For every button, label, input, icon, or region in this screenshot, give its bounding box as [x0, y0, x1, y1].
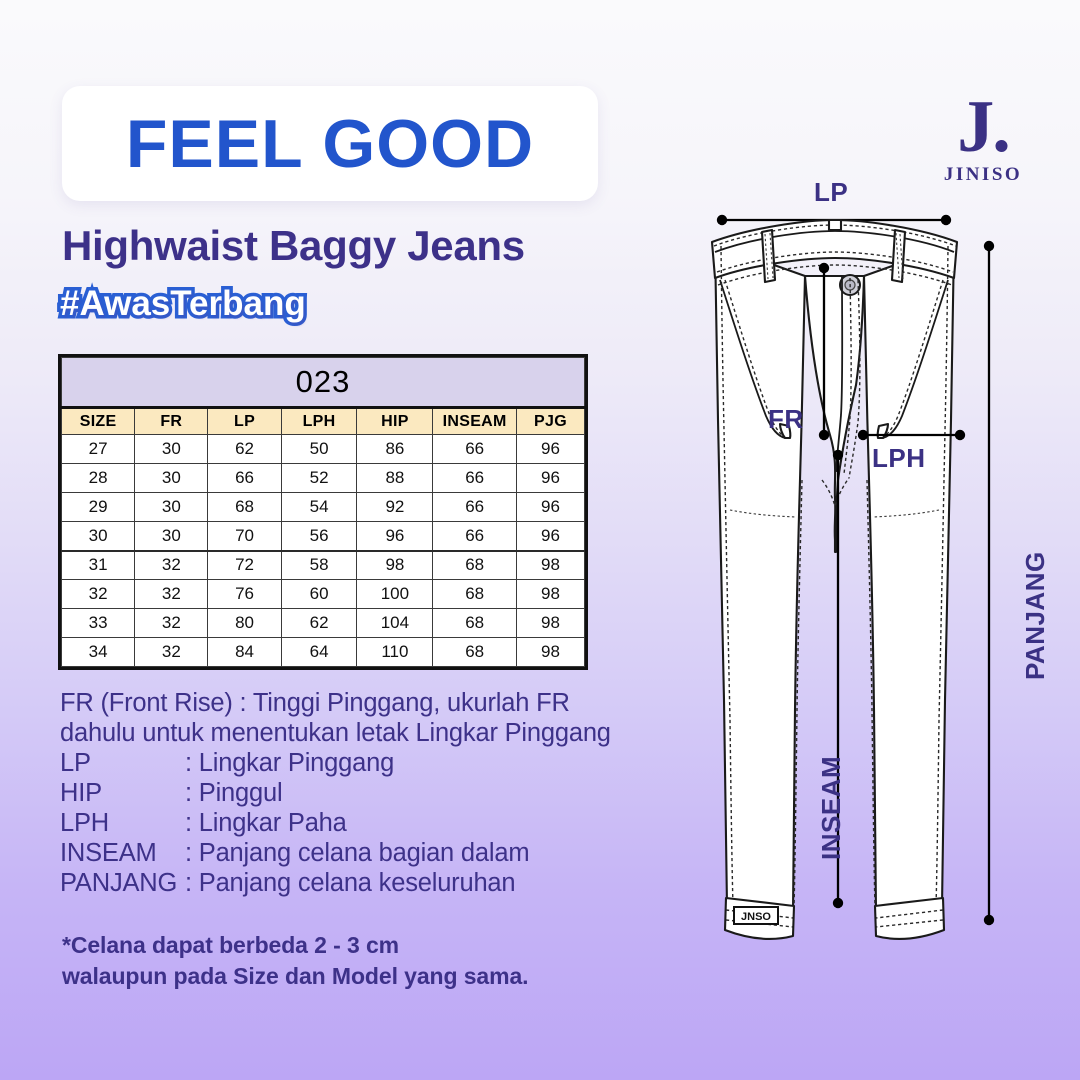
cell-fr: 32 [135, 609, 208, 638]
cell-lp: 80 [208, 609, 281, 638]
cell-size: 30 [62, 522, 135, 551]
legend-fr-line-1: FR (Front Rise) : Tinggi Pinggang, ukurl… [60, 688, 700, 718]
cell-lp: 76 [208, 580, 281, 609]
cell-size: 32 [62, 580, 135, 609]
cell-lph: 58 [281, 551, 357, 580]
cell-lph: 52 [281, 464, 357, 493]
brand-logo: J. JINISO [918, 92, 1048, 186]
cell-hip: 110 [357, 638, 433, 667]
cell-lp: 66 [208, 464, 281, 493]
legend-item-value: : Lingkar Paha [185, 808, 347, 838]
table-row: 323276601006898 [62, 580, 585, 609]
cell-size: 34 [62, 638, 135, 667]
feel-good-title: FEEL GOOD [126, 110, 534, 178]
column-header-hip: HIP [357, 408, 433, 435]
hem-brand-tag: JNSO [734, 907, 778, 924]
legend-item-value: : Pinggul [185, 778, 282, 808]
column-header-lph: LPH [281, 408, 357, 435]
legend-item: HIP: Pinggul [60, 778, 700, 808]
cell-lph: 64 [281, 638, 357, 667]
cell-inseam: 68 [433, 638, 517, 667]
column-header-lp: LP [208, 408, 281, 435]
cell-inseam: 66 [433, 522, 517, 551]
legend-item: LP: Lingkar Pinggang [60, 748, 700, 778]
cell-hip: 96 [357, 522, 433, 551]
disclaimer-line-1: *Celana dapat berbeda 2 - 3 cm [62, 930, 528, 961]
column-header-size: SIZE [62, 408, 135, 435]
cell-lp: 68 [208, 493, 281, 522]
measurement-legend: FR (Front Rise) : Tinggi Pinggang, ukurl… [60, 688, 700, 898]
cell-lph: 60 [281, 580, 357, 609]
disclaimer-note: *Celana dapat berbeda 2 - 3 cm walaupun … [62, 930, 528, 992]
logo-j-mark: J. [918, 92, 1048, 162]
cell-inseam: 66 [433, 435, 517, 464]
cell-lph: 50 [281, 435, 357, 464]
column-header-inseam: INSEAM [433, 408, 517, 435]
cell-hip: 86 [357, 435, 433, 464]
cell-pjg: 98 [516, 638, 584, 667]
table-row: 343284641106898 [62, 638, 585, 667]
legend-item: INSEAM: Panjang celana bagian dalam [60, 838, 700, 868]
cell-lph: 54 [281, 493, 357, 522]
cell-hip: 104 [357, 609, 433, 638]
label-lp: LP [814, 177, 848, 208]
cell-size: 28 [62, 464, 135, 493]
cell-lp: 62 [208, 435, 281, 464]
cell-pjg: 96 [516, 435, 584, 464]
cell-hip: 98 [357, 551, 433, 580]
cell-fr: 32 [135, 551, 208, 580]
cell-pjg: 96 [516, 493, 584, 522]
product-subtitle: Highwaist Baggy Jeans [62, 222, 525, 270]
cell-size: 29 [62, 493, 135, 522]
legend-item-key: LP [60, 748, 185, 778]
cell-fr: 30 [135, 493, 208, 522]
legend-item: PANJANG: Panjang celana keseluruhan [60, 868, 700, 898]
table-row: 333280621046898 [62, 609, 585, 638]
table-header-row: SIZE FR LP LPH HIP INSEAM PJG [62, 408, 585, 435]
cell-inseam: 68 [433, 609, 517, 638]
cell-size: 33 [62, 609, 135, 638]
cell-fr: 30 [135, 464, 208, 493]
cell-pjg: 96 [516, 464, 584, 493]
cell-hip: 88 [357, 464, 433, 493]
cell-lph: 56 [281, 522, 357, 551]
cell-fr: 32 [135, 580, 208, 609]
left-content-column: FEEL GOOD Highwaist Baggy Jeans #AwasTer… [0, 0, 700, 1080]
label-inseam: INSEAM [816, 756, 847, 860]
table-row: 27306250866696 [62, 435, 585, 464]
cell-size: 27 [62, 435, 135, 464]
disclaimer-line-2: walaupun pada Size dan Model yang sama. [62, 961, 528, 992]
jeans-measurement-diagram: .ol { fill:#ffffff; stroke:#1a1a1a; stro… [690, 180, 1080, 970]
model-code-cell: 023 [62, 358, 585, 408]
legend-item-key: INSEAM [60, 838, 185, 868]
label-panjang: PANJANG [1020, 551, 1051, 680]
label-fr: FR [768, 404, 804, 435]
legend-item-value: : Lingkar Pinggang [185, 748, 394, 778]
cell-hip: 92 [357, 493, 433, 522]
column-header-pjg: PJG [516, 408, 584, 435]
legend-item-key: PANJANG [60, 868, 185, 898]
cell-lp: 72 [208, 551, 281, 580]
cell-pjg: 98 [516, 551, 584, 580]
table-row: 28306652886696 [62, 464, 585, 493]
table-row: 31327258986898 [62, 551, 585, 580]
cell-pjg: 98 [516, 609, 584, 638]
cell-pjg: 98 [516, 580, 584, 609]
column-header-fr: FR [135, 408, 208, 435]
cell-inseam: 66 [433, 493, 517, 522]
legend-fr-line-2: dahulu untuk menentukan letak Lingkar Pi… [60, 718, 700, 748]
cell-lp: 70 [208, 522, 281, 551]
table-row: 29306854926696 [62, 493, 585, 522]
legend-item-key: HIP [60, 778, 185, 808]
cell-lph: 62 [281, 609, 357, 638]
table-row: 30307056966696 [62, 522, 585, 551]
cell-lp: 84 [208, 638, 281, 667]
cell-fr: 30 [135, 522, 208, 551]
legend-item-key: LPH [60, 808, 185, 838]
legend-item-value: : Panjang celana bagian dalam [185, 838, 529, 868]
cell-inseam: 66 [433, 464, 517, 493]
feel-good-badge: FEEL GOOD [62, 86, 598, 201]
legend-item-value: : Panjang celana keseluruhan [185, 868, 515, 898]
svg-text:JNSO: JNSO [741, 911, 771, 923]
legend-item: LPH: Lingkar Paha [60, 808, 700, 838]
cell-size: 31 [62, 551, 135, 580]
size-chart-table: 023 SIZE FR LP LPH HIP INSEAM PJG 273062… [58, 354, 588, 670]
cell-pjg: 96 [516, 522, 584, 551]
cell-fr: 30 [135, 435, 208, 464]
label-lph: LPH [872, 443, 926, 474]
cell-hip: 100 [357, 580, 433, 609]
panjang-dimension-arrow [984, 241, 994, 925]
cell-fr: 32 [135, 638, 208, 667]
campaign-hashtag: #AwasTerbang [60, 283, 306, 325]
cell-inseam: 68 [433, 551, 517, 580]
cell-inseam: 68 [433, 580, 517, 609]
